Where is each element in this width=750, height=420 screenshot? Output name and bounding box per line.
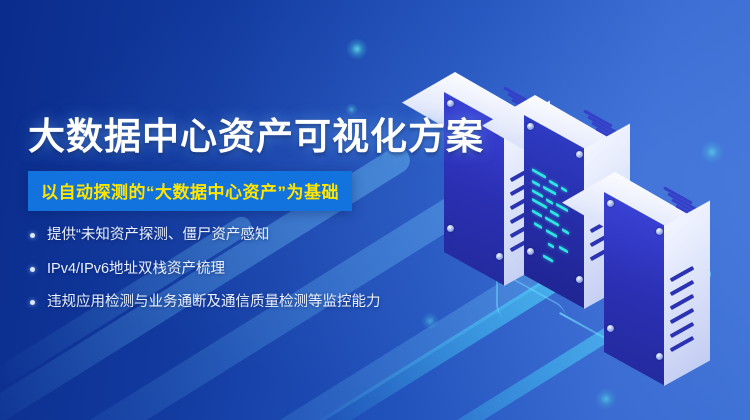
list-item-label: 违规应用检测与业务通断及通信质量检测等监控能力 [47, 294, 381, 310]
list-item: 违规应用检测与业务通断及通信质量检测等监控能力 [30, 294, 428, 311]
subtitle-highlight-bar: 以自动探测的“大数据中心资产”为基础 [28, 171, 352, 211]
text-content: 大数据中心资产可视化方案 以自动探测的“大数据中心资产”为基础 提供“未知资产探… [28, 118, 428, 311]
screw-icon [447, 225, 454, 232]
list-item-label: IPv4/IPv6地址双栈资产梳理 [47, 261, 225, 277]
screw-icon [576, 151, 583, 158]
page-title: 大数据中心资产可视化方案 [28, 118, 428, 157]
screw-icon [447, 100, 454, 107]
screw-icon [496, 253, 503, 260]
list-item-label: 提供“未知资产探测、僵尸资产感知 [47, 227, 269, 243]
screw-icon [527, 248, 534, 255]
screw-icon [607, 200, 614, 207]
screw-icon [656, 353, 663, 360]
bullet-dot-icon [30, 267, 35, 272]
rack-front-panel [604, 192, 664, 385]
list-item: IPv4/IPv6地址双栈资产梳理 [30, 261, 428, 278]
screw-icon [656, 228, 663, 235]
screw-icon [576, 276, 583, 283]
list-item: 提供“未知资产探测、僵尸资产感知 [30, 227, 428, 244]
bullet-dot-icon [30, 300, 35, 305]
feature-list: 提供“未知资产探测、僵尸资产感知 IPv4/IPv6地址双栈资产梳理 违规应用检… [28, 227, 428, 311]
screw-icon [607, 325, 614, 332]
bullet-dot-icon [30, 233, 35, 238]
screw-icon [527, 123, 534, 130]
server-illustration [430, 52, 750, 420]
banner-root: 大数据中心资产可视化方案 以自动探测的“大数据中心资产”为基础 提供“未知资产探… [0, 0, 750, 420]
